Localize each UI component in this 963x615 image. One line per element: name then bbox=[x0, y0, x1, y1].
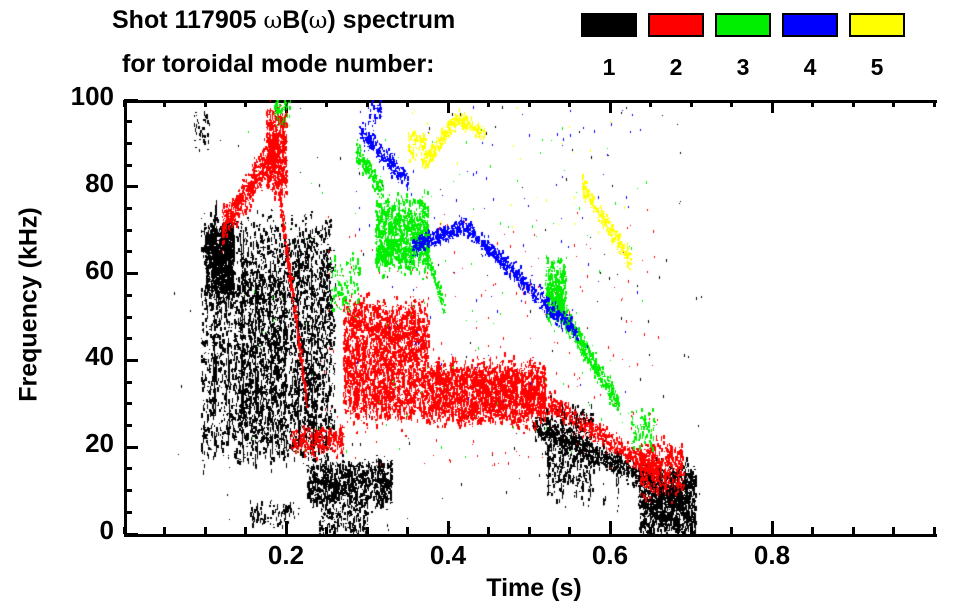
legend: 12345 bbox=[0, 0, 963, 92]
legend-swatch-mode-2 bbox=[648, 13, 704, 37]
y-tick-label-100: 100 bbox=[4, 81, 114, 112]
y-tick-label-0: 0 bbox=[4, 515, 114, 546]
legend-label-mode-3: 3 bbox=[715, 54, 771, 81]
x-tick-label-0.4: 0.4 bbox=[408, 540, 488, 571]
x-tick-label-0.6: 0.6 bbox=[570, 540, 650, 571]
legend-label-mode-2: 2 bbox=[648, 54, 704, 81]
y-axis-title: Frequency (kHz) bbox=[15, 190, 44, 420]
legend-swatch-mode-3 bbox=[715, 13, 771, 37]
x-tick-label-0.8: 0.8 bbox=[732, 540, 812, 571]
legend-label-mode-1: 1 bbox=[581, 54, 637, 81]
y-tick-label-20: 20 bbox=[4, 428, 114, 459]
legend-swatch-mode-4 bbox=[782, 13, 838, 37]
legend-label-mode-4: 4 bbox=[782, 54, 838, 81]
legend-swatch-mode-5 bbox=[849, 13, 905, 37]
figure-root: Shot 117905 ωB(ω) spectrum for toroidal … bbox=[0, 0, 963, 615]
x-axis-title: Time (s) bbox=[424, 574, 644, 603]
legend-swatch-mode-1 bbox=[581, 13, 637, 37]
x-tick-label-0.2: 0.2 bbox=[246, 540, 326, 571]
axis-bottom-line bbox=[124, 534, 937, 537]
spectrogram-plot-area bbox=[124, 100, 934, 534]
legend-label-mode-5: 5 bbox=[849, 54, 905, 81]
